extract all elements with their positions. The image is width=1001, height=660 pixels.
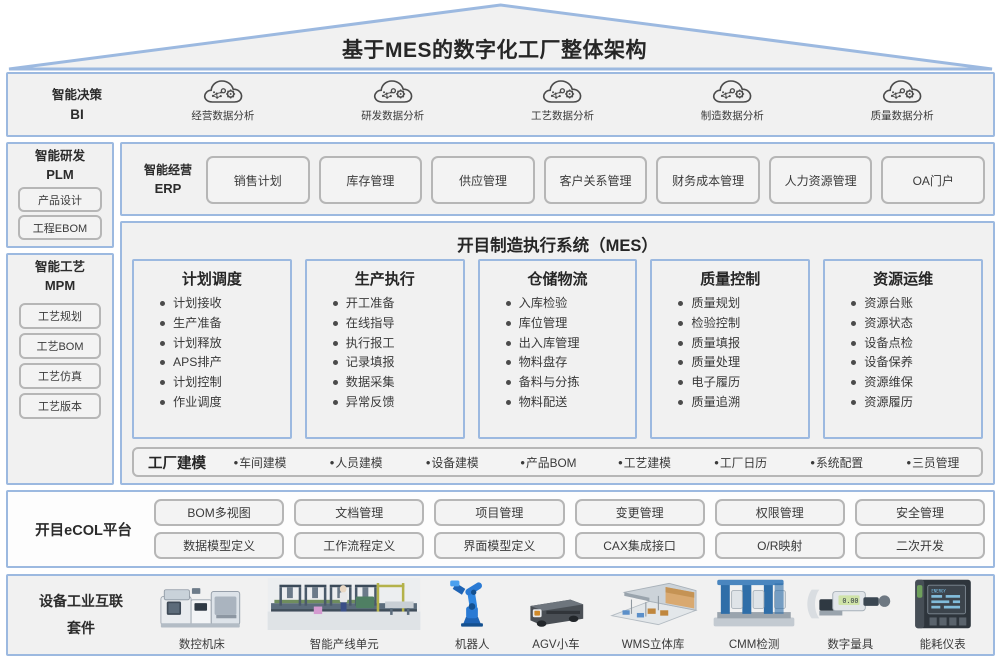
ecol-chip[interactable]: 项目管理 (434, 499, 564, 526)
mes-module-item[interactable]: 计划接收 (160, 294, 290, 314)
mes-module-column: 质量控制质量规划检验控制质量填报质量处理电子履历质量追溯 (650, 259, 810, 439)
equipment-label: 智能产线单元 (310, 636, 379, 652)
ecol-chip-row-2: 数据模型定义工作流程定义界面模型定义CAX集成接口O/R映射二次开发 (154, 532, 985, 559)
mes-module-item[interactable]: 在线指导 (333, 314, 463, 334)
equipment-item[interactable]: AGV小车 (512, 590, 601, 652)
factory-modeling-item[interactable]: 工艺建模 (597, 454, 693, 471)
ecol-chip-grid: BOM多视图文档管理项目管理变更管理权限管理安全管理 数据模型定义工作流程定义界… (154, 499, 985, 559)
ecol-chip[interactable]: 安全管理 (855, 499, 985, 526)
mes-module-item[interactable]: 资源维保 (851, 373, 981, 393)
mes-module-item[interactable]: 设备点检 (851, 334, 981, 354)
equipment-item[interactable]: ENERGY能耗仪表 (898, 578, 987, 652)
mes-module-item[interactable]: 计划控制 (160, 373, 290, 393)
mes-module-item[interactable]: 库位管理 (506, 314, 636, 334)
mes-module-item[interactable]: 设备保养 (851, 353, 981, 373)
ecol-chip[interactable]: 变更管理 (575, 499, 705, 526)
svg-text:ENERGY: ENERGY (931, 588, 946, 593)
bi-item[interactable]: 研发数据分析 (308, 78, 478, 136)
factory-modeling-item-list: 车间建模人员建模设备建模产品BOM工艺建模工厂日历系统配置三员管理 (212, 454, 981, 471)
mes-module-item[interactable]: 电子履历 (678, 373, 808, 393)
erp-chip[interactable]: 客户关系管理 (544, 156, 648, 204)
mes-module-item[interactable]: 质量规划 (678, 294, 808, 314)
bi-item-label: 工艺数据分析 (531, 108, 594, 123)
equipment-label: CMM检测 (729, 636, 779, 652)
plm-label-line2: PLM (8, 166, 112, 185)
factory-modeling-bar: 工厂建模 车间建模人员建模设备建模产品BOM工艺建模工厂日历系统配置三员管理 (132, 447, 983, 477)
ecol-chip[interactable]: CAX集成接口 (575, 532, 705, 559)
mes-module-column: 资源运维资源台账资源状态设备点检设备保养资源维保资源履历 (823, 259, 983, 439)
mes-layer-panel: 开目制造执行系统（MES） 计划调度计划接收生产准备计划释放APS排产计划控制作… (120, 221, 995, 485)
mpm-chip[interactable]: 工艺版本 (19, 393, 101, 419)
mes-module-item[interactable]: 数据采集 (333, 373, 463, 393)
bi-item[interactable]: 制造数据分析 (647, 78, 817, 136)
equipment-label: AGV小车 (532, 636, 579, 652)
mes-module-title: 仓储物流 (480, 268, 636, 289)
mes-module-item[interactable]: 出入库管理 (506, 334, 636, 354)
ecol-chip[interactable]: 工作流程定义 (294, 532, 424, 559)
mes-module-item[interactable]: 质量追溯 (678, 393, 808, 413)
mpm-chip[interactable]: 工艺BOM (19, 333, 101, 359)
mes-module-item[interactable]: 质量处理 (678, 353, 808, 373)
mpm-chip-list: 工艺规划工艺BOM工艺仿真工艺版本 (8, 299, 112, 419)
mes-module-title: 质量控制 (652, 268, 808, 289)
equipment-label-line1: 设备工业互联 (39, 588, 123, 615)
plm-chip[interactable]: 工程EBOM (18, 215, 102, 240)
factory-modeling-item[interactable]: 产品BOM (500, 454, 596, 471)
mes-module-column: 生产执行开工准备在线指导执行报工记录填报数据采集异常反馈 (305, 259, 465, 439)
mes-module-item[interactable]: 质量填报 (678, 334, 808, 354)
mpm-chip[interactable]: 工艺规划 (19, 303, 101, 329)
factory-modeling-item[interactable]: 工厂日历 (693, 454, 789, 471)
equipment-thumbnail (150, 578, 254, 635)
bi-item-label: 质量数据分析 (871, 108, 934, 123)
bi-item-label: 制造数据分析 (701, 108, 764, 123)
factory-modeling-item[interactable]: 三员管理 (885, 454, 981, 471)
ecol-layer-label: 开目eCOL平台 (16, 492, 151, 566)
mes-title: 开目制造执行系统（MES） (122, 232, 993, 256)
mes-module-column: 计划调度计划接收生产准备计划释放APS排产计划控制作业调度 (132, 259, 292, 439)
equipment-thumbnail (435, 578, 509, 635)
cloud-analytics-icon (541, 78, 583, 105)
equipment-item[interactable]: CMM检测 (706, 578, 802, 652)
erp-chip-list: 销售计划库存管理供应管理客户关系管理财务成本管理人力资源管理OA门户 (206, 156, 985, 204)
bi-layer-label: 智能决策 BI (22, 80, 132, 132)
plm-layer-panel: 智能研发 PLM 产品设计工程EBOM (6, 142, 114, 248)
ecol-layer-panel: 开目eCOL平台 BOM多视图文档管理项目管理变更管理权限管理安全管理 数据模型… (6, 490, 995, 568)
mes-module-list: 资源台账资源状态设备点检设备保养资源维保资源履历 (825, 294, 981, 413)
mes-module-item[interactable]: 物料配送 (506, 393, 636, 413)
factory-modeling-title: 工厂建模 (134, 452, 212, 473)
equipment-item[interactable]: 智能产线单元 (256, 578, 433, 652)
equipment-layer-label: 设备工业互联 套件 (16, 576, 146, 654)
architecture-diagram: 基于MES的数字化工厂整体架构 智能决策 BI 经营数据分析研发数据分析工艺数据… (0, 0, 1001, 660)
cloud-analytics-icon (372, 78, 414, 105)
svg-text:0.00: 0.00 (843, 597, 859, 605)
mes-module-list: 计划接收生产准备计划释放APS排产计划控制作业调度 (134, 294, 290, 413)
mes-module-item[interactable]: 资源状态 (851, 314, 981, 334)
mpm-chip[interactable]: 工艺仿真 (19, 363, 101, 389)
cloud-analytics-icon (711, 78, 753, 105)
mes-module-item[interactable]: 物料盘存 (506, 353, 636, 373)
plm-heading: 智能研发 PLM (8, 144, 112, 185)
mes-module-list: 开工准备在线指导执行报工记录填报数据采集异常反馈 (307, 294, 463, 413)
plm-label-line1: 智能研发 (8, 144, 112, 166)
ecol-chip[interactable]: O/R映射 (715, 532, 845, 559)
mes-module-item[interactable]: 检验控制 (678, 314, 808, 334)
ecol-chip-row-1: BOM多视图文档管理项目管理变更管理权限管理安全管理 (154, 499, 985, 526)
mpm-heading: 智能工艺 MPM (8, 255, 112, 296)
equipment-thumbnail (708, 578, 800, 635)
equipment-thumbnail: ENERGY (901, 578, 985, 635)
plm-chip-list: 产品设计工程EBOM (8, 184, 112, 240)
equipment-item[interactable]: 机器人 (433, 578, 512, 652)
erp-label-line2: ERP (155, 179, 182, 199)
equipment-label: 能耗仪表 (920, 636, 966, 652)
erp-chip[interactable]: 销售计划 (206, 156, 310, 204)
production-line-icon (256, 578, 432, 630)
erp-layer-label: 智能经营 ERP (132, 152, 204, 208)
equipment-item[interactable]: WMS立体库 (600, 578, 706, 652)
bi-label-line2: BI (70, 105, 84, 126)
bi-item[interactable]: 工艺数据分析 (478, 78, 648, 136)
energy-meter-icon: ENERGY (901, 578, 985, 630)
erp-chip[interactable]: 库存管理 (319, 156, 423, 204)
cmm-inspection-icon (708, 578, 800, 630)
mpm-label-line1: 智能工艺 (8, 255, 112, 277)
erp-chip[interactable]: 财务成本管理 (656, 156, 760, 204)
mes-module-item[interactable]: APS排产 (160, 353, 290, 373)
robot-arm-icon (435, 578, 509, 630)
bi-item[interactable]: 经营数据分析 (138, 78, 308, 136)
bi-item-label: 研发数据分析 (361, 108, 424, 123)
mes-module-item[interactable]: 执行报工 (333, 334, 463, 354)
erp-chip[interactable]: OA门户 (881, 156, 985, 204)
factory-modeling-item[interactable]: 车间建模 (212, 454, 308, 471)
factory-modeling-item[interactable]: 系统配置 (789, 454, 885, 471)
equipment-thumbnail (602, 578, 704, 635)
mpm-label-line2: MPM (8, 277, 112, 296)
mes-module-title: 生产执行 (307, 268, 463, 289)
page-title: 基于MES的数字化工厂整体架构 (0, 34, 989, 64)
equipment-item[interactable]: 0.00数字量具 (802, 578, 898, 652)
erp-chip[interactable]: 供应管理 (431, 156, 535, 204)
bi-label-line1: 智能决策 (52, 86, 102, 105)
ecol-chip[interactable]: BOM多视图 (154, 499, 284, 526)
bi-item-list: 经营数据分析研发数据分析工艺数据分析制造数据分析质量数据分析 (138, 78, 987, 136)
mes-module-item[interactable]: 资源台账 (851, 294, 981, 314)
equipment-layer-panel: 设备工业互联 套件 数控机床智能产线单元机器人AGV小车WMS立体库CMM检测0… (6, 574, 995, 656)
factory-modeling-item[interactable]: 设备建模 (404, 454, 500, 471)
mes-module-item[interactable]: 备料与分拣 (506, 373, 636, 393)
equipment-label: 机器人 (455, 636, 490, 652)
mpm-layer-panel: 智能工艺 MPM 工艺规划工艺BOM工艺仿真工艺版本 (6, 253, 114, 485)
agv-cart-icon (514, 590, 598, 630)
digital-gauge-icon: 0.00 (804, 578, 896, 630)
equipment-item[interactable]: 数控机床 (148, 578, 256, 652)
mes-module-list: 质量规划检验控制质量填报质量处理电子履历质量追溯 (652, 294, 808, 413)
equipment-label: WMS立体库 (622, 636, 685, 652)
erp-chip[interactable]: 人力资源管理 (769, 156, 873, 204)
equipment-label: 数字量具 (827, 636, 873, 652)
equipment-item-list: 数控机床智能产线单元机器人AGV小车WMS立体库CMM检测0.00数字量具ENE… (148, 580, 987, 652)
mes-column-list: 计划调度计划接收生产准备计划释放APS排产计划控制作业调度生产执行开工准备在线指… (132, 259, 983, 439)
cloud-analytics-icon (202, 78, 244, 105)
mes-module-item[interactable]: 作业调度 (160, 393, 290, 413)
mes-module-item[interactable]: 记录填报 (333, 353, 463, 373)
bi-item-label: 经营数据分析 (191, 108, 254, 123)
ecol-chip[interactable]: 数据模型定义 (154, 532, 284, 559)
cloud-analytics-icon (881, 78, 923, 105)
ecol-chip[interactable]: 权限管理 (715, 499, 845, 526)
mes-module-item[interactable]: 生产准备 (160, 314, 290, 334)
wms-warehouse-icon (602, 578, 704, 630)
mes-module-item[interactable]: 计划释放 (160, 334, 290, 354)
mes-module-item[interactable]: 异常反馈 (333, 393, 463, 413)
mes-module-item[interactable]: 资源履历 (851, 393, 981, 413)
equipment-thumbnail (256, 578, 432, 635)
plm-chip[interactable]: 产品设计 (18, 187, 102, 212)
ecol-chip[interactable]: 文档管理 (294, 499, 424, 526)
mes-module-item[interactable]: 入库检验 (506, 294, 636, 314)
bi-layer-panel: 智能决策 BI 经营数据分析研发数据分析工艺数据分析制造数据分析质量数据分析 (6, 72, 995, 137)
mes-module-item[interactable]: 开工准备 (333, 294, 463, 314)
factory-modeling-item[interactable]: 人员建模 (308, 454, 404, 471)
equipment-thumbnail: 0.00 (804, 578, 896, 635)
erp-layer-panel: 智能经营 ERP 销售计划库存管理供应管理客户关系管理财务成本管理人力资源管理O… (120, 142, 995, 216)
cnc-machine-icon (150, 578, 254, 630)
bi-item[interactable]: 质量数据分析 (817, 78, 987, 136)
equipment-label-line2: 套件 (67, 615, 95, 642)
mes-module-column: 仓储物流入库检验库位管理出入库管理物料盘存备料与分拣物料配送 (478, 259, 638, 439)
ecol-chip[interactable]: 界面模型定义 (434, 532, 564, 559)
equipment-label: 数控机床 (179, 636, 225, 652)
erp-label-line1: 智能经营 (144, 161, 192, 180)
ecol-chip[interactable]: 二次开发 (855, 532, 985, 559)
mes-module-title: 资源运维 (825, 268, 981, 289)
mes-module-title: 计划调度 (134, 268, 290, 289)
equipment-thumbnail (514, 590, 598, 635)
mes-module-list: 入库检验库位管理出入库管理物料盘存备料与分拣物料配送 (480, 294, 636, 413)
